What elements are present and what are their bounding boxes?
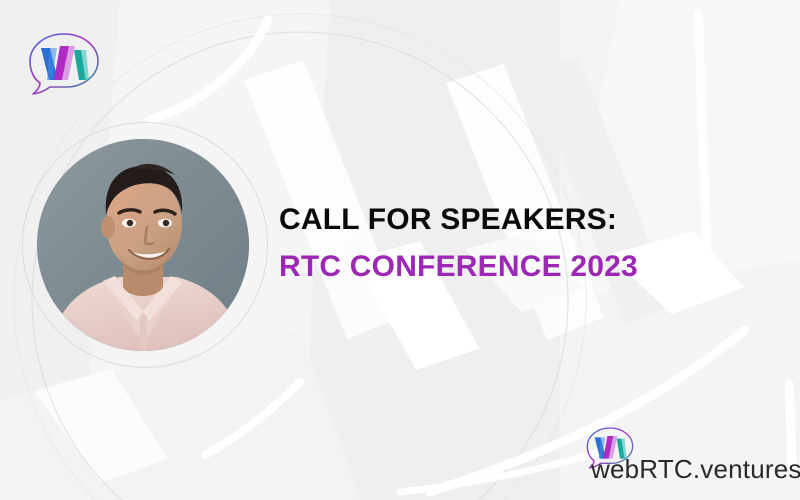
headline-block: CALL FOR SPEAKERS: RTC CONFERENCE 2023 bbox=[279, 205, 749, 282]
brand-logo-top bbox=[22, 28, 106, 100]
promo-banner: CALL FOR SPEAKERS: RTC CONFERENCE 2023 w… bbox=[0, 0, 800, 500]
webrtc-speech-bubble-w-logo bbox=[22, 28, 106, 100]
speaker-portrait bbox=[37, 139, 249, 351]
brand-wordmark: webRTC.ventures bbox=[591, 454, 800, 485]
brand-logo-bottom: webRTC.ventures bbox=[582, 424, 778, 486]
headline-line-2: RTC CONFERENCE 2023 bbox=[279, 252, 749, 282]
headline-line-1: CALL FOR SPEAKERS: bbox=[279, 205, 749, 235]
speaker-photo-illustration bbox=[37, 139, 249, 351]
